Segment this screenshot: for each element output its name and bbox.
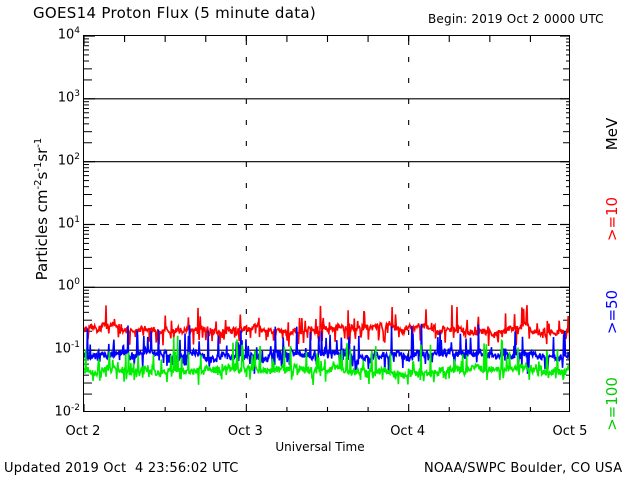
y-tick-label: 10-1 — [34, 340, 80, 356]
y-tick-label: 102 — [34, 152, 80, 168]
series-legend: MeV >=10 >=50 >=100 — [592, 35, 632, 415]
y-tick-label: 101 — [34, 215, 80, 231]
x-tick-label: Oct 3 — [210, 424, 280, 439]
chart-svg — [84, 36, 570, 412]
y-tick-label: 100 — [34, 277, 80, 293]
chart-plot-area — [83, 35, 570, 412]
begin-timestamp: Begin: 2019 Oct 2 0000 UTC — [428, 12, 604, 26]
legend-item-p10: >=10 — [603, 169, 621, 269]
x-tick-label: Oct 2 — [48, 424, 118, 439]
x-tick-label: Oct 4 — [373, 424, 443, 439]
y-tick-label: 103 — [34, 89, 80, 105]
x-axis-label: Universal Time — [0, 440, 640, 454]
proton-flux-plot-page: GOES14 Proton Flux (5 minute data) Begin… — [0, 0, 640, 480]
y-axis-tick-labels: 10410310210110010-110-2 — [32, 0, 80, 480]
x-axis-tick-labels: Oct 2Oct 3Oct 4Oct 5 — [0, 420, 640, 440]
provider-credit: NOAA/SWPC Boulder, CO USA — [424, 461, 622, 476]
x-tick-label: Oct 5 — [535, 424, 605, 439]
updated-timestamp: Updated 2019 Oct 4 23:56:02 UTC — [4, 461, 239, 476]
legend-item-p50: >=50 — [603, 262, 621, 362]
legend-item-p100: >=100 — [603, 354, 621, 454]
y-tick-label: 10-2 — [34, 403, 80, 419]
y-tick-label: 104 — [34, 26, 80, 42]
